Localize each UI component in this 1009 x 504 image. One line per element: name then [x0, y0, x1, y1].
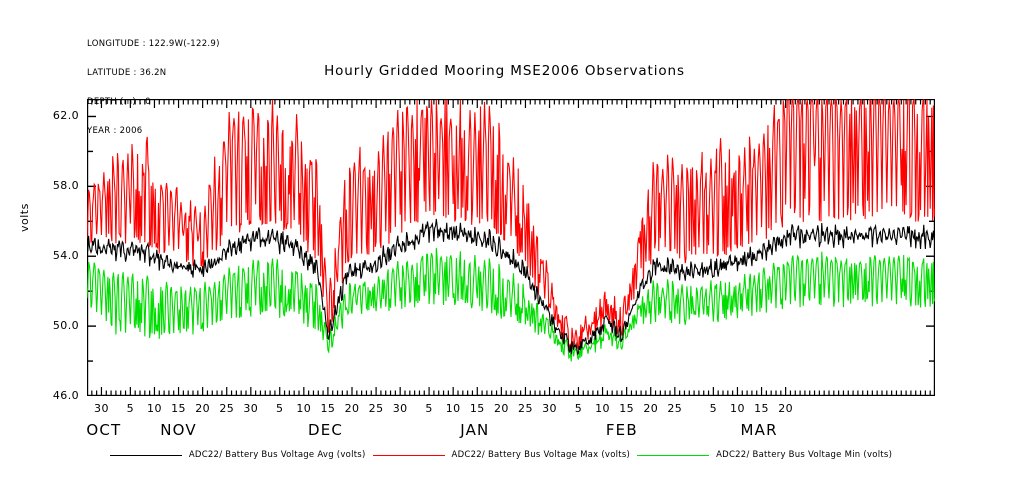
- chart-page: LONGITUDE : 122.9W(-122.9) LATITUDE : 36…: [0, 0, 1009, 504]
- legend-label: ADC22/ Battery Bus Voltage Min (volts): [716, 450, 892, 460]
- legend-label: ADC22/ Battery Bus Voltage Max (volts): [452, 450, 631, 460]
- y-tick-label: 58.0: [31, 179, 79, 192]
- x-tick-label: 20: [771, 402, 801, 415]
- timeseries-plot: [87, 99, 935, 396]
- metadata-longitude: LONGITUDE : 122.9W(-122.9): [87, 40, 220, 50]
- x-axis-ticks: [87, 99, 935, 396]
- plot-frame: [88, 100, 935, 396]
- legend-swatch-line: [637, 455, 709, 456]
- x-tick-label: 30: [86, 402, 116, 415]
- x-tick-label: 30: [385, 402, 415, 415]
- chart-legend: ADC22/ Battery Bus Voltage Avg (volts)AD…: [0, 450, 1009, 460]
- legend-swatch-line: [373, 455, 445, 456]
- plot-area: [87, 99, 935, 396]
- y-tick-label: 50.0: [31, 319, 79, 332]
- x-tick-label: 25: [660, 402, 690, 415]
- legend-label: ADC22/ Battery Bus Voltage Avg (volts): [189, 450, 366, 460]
- y-tick-label: 54.0: [31, 249, 79, 262]
- y-tick-label: 46.0: [31, 389, 79, 402]
- x-month-label: NOV: [134, 421, 224, 439]
- series-line-min: [87, 248, 935, 361]
- legend-swatch-line: [110, 455, 182, 456]
- legend-item[interactable]: ADC22/ Battery Bus Voltage Max (volts): [373, 450, 638, 460]
- legend-item[interactable]: ADC22/ Battery Bus Voltage Min (volts): [637, 450, 899, 460]
- y-axis-label: volts: [18, 203, 31, 232]
- x-tick-label: 30: [535, 402, 565, 415]
- legend-item[interactable]: ADC22/ Battery Bus Voltage Avg (volts): [110, 450, 373, 460]
- chart-title: Hourly Gridded Mooring MSE2006 Observati…: [0, 63, 1009, 79]
- x-month-label: DEC: [281, 421, 371, 439]
- y-tick-label: 62.0: [31, 109, 79, 122]
- x-month-label: JAN: [430, 421, 520, 439]
- x-month-label: FEB: [577, 421, 667, 439]
- x-month-label: MAR: [714, 421, 804, 439]
- x-tick-label: 30: [236, 402, 266, 415]
